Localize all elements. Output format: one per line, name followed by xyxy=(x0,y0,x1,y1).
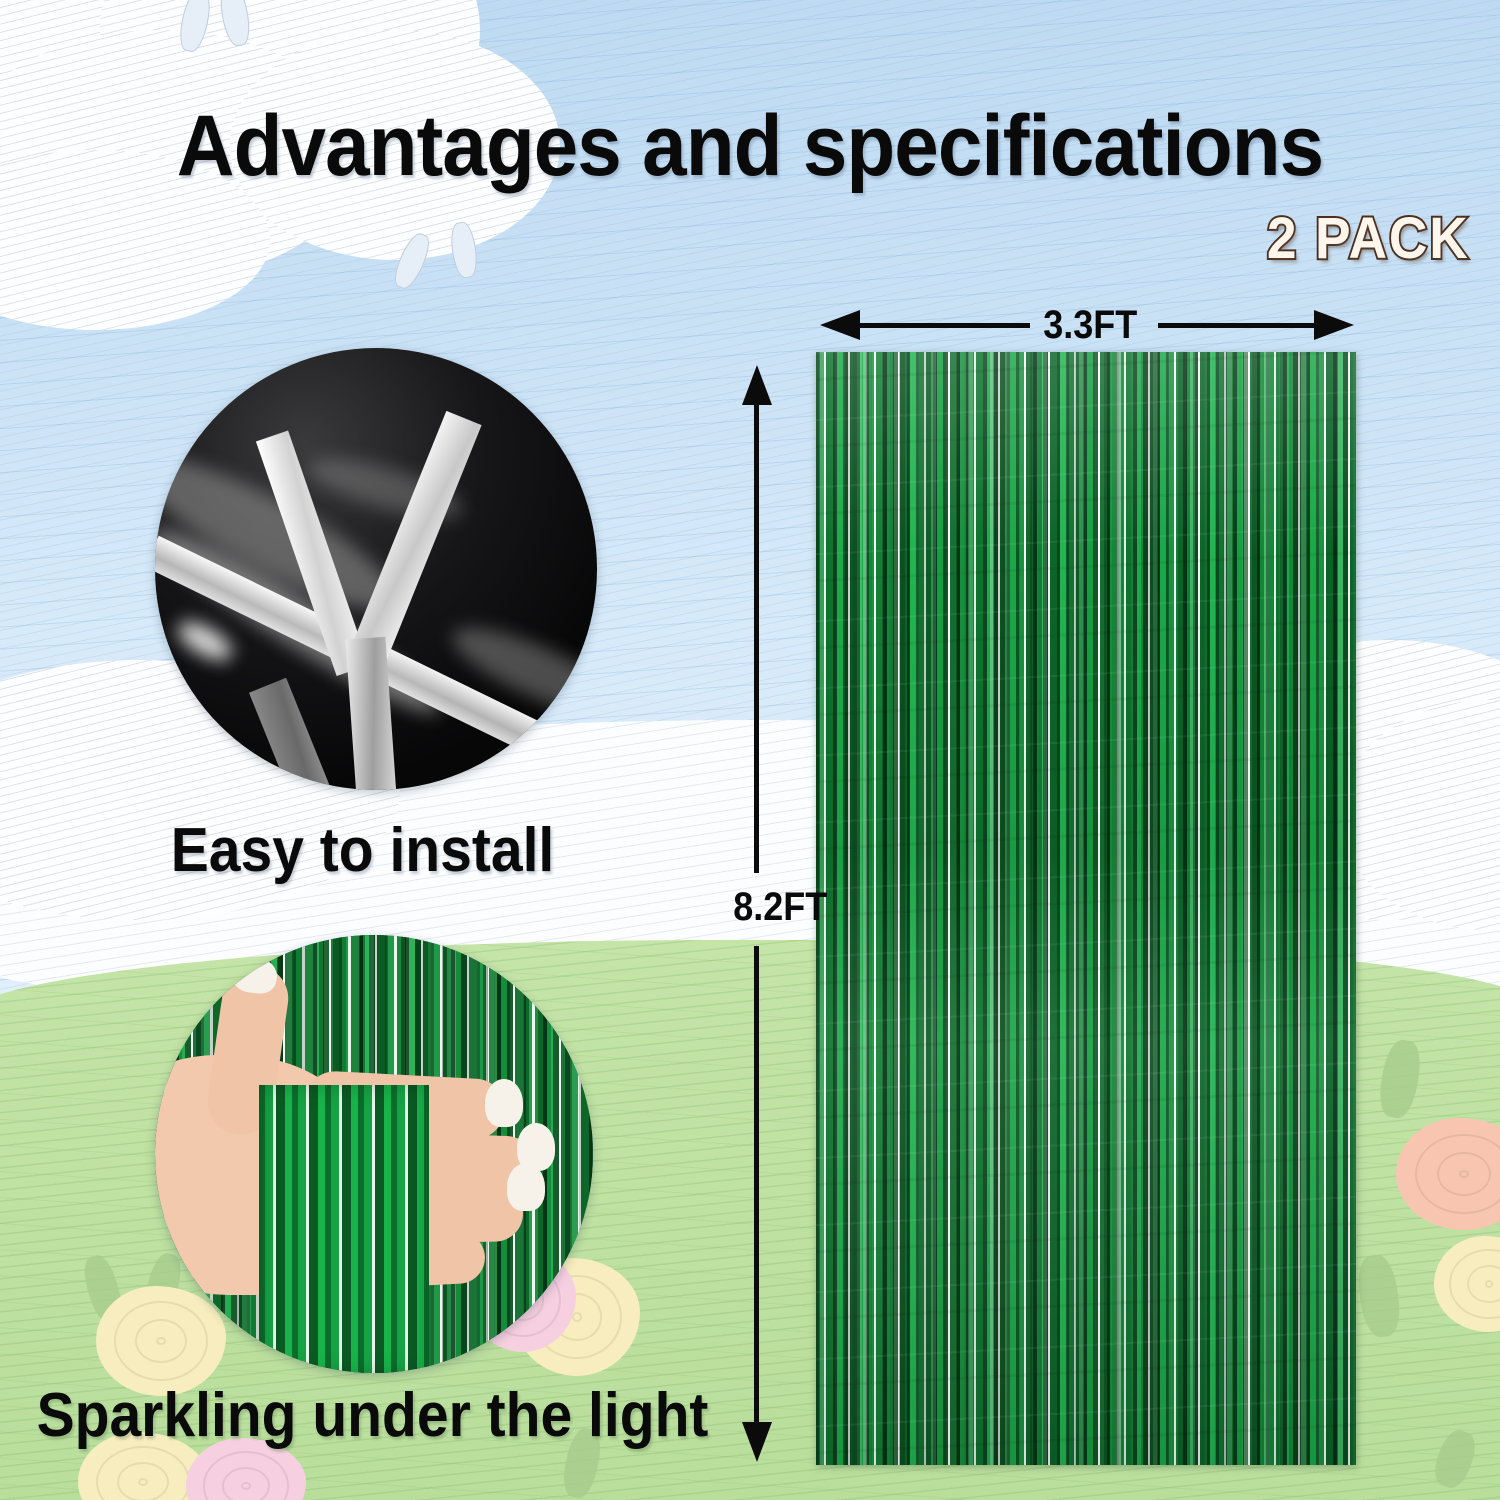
product-image-fringe-curtain xyxy=(816,352,1356,1465)
feature-caption-sparkling: Sparkling under the light xyxy=(30,1380,715,1451)
feature-photo-sparkling xyxy=(155,935,593,1373)
pack-count-badge: 2 PACK xyxy=(1266,205,1469,272)
width-arrow-line-left xyxy=(858,323,1030,328)
height-dimension-label: 8.2FT xyxy=(733,885,827,930)
curtain-horizontal-crinkle xyxy=(816,352,1356,1465)
product-infographic-poster: Advantages and specifications 2 PACK Eas… xyxy=(0,0,1500,1500)
foil-strip-foreground xyxy=(259,1085,429,1373)
photo-sheen xyxy=(173,615,238,668)
height-arrow-line-bottom xyxy=(754,946,759,1424)
width-arrow-line-right xyxy=(1158,323,1318,328)
width-dimension-label: 3.3FT xyxy=(1043,303,1137,348)
height-arrow-head-top xyxy=(742,365,772,405)
height-arrow-head-bottom xyxy=(742,1422,772,1462)
width-arrow-head-left xyxy=(820,310,860,340)
height-arrow-line-top xyxy=(754,403,759,873)
fingernail xyxy=(485,1079,523,1127)
width-arrow-head-right xyxy=(1314,310,1354,340)
page-title: Advantages and specifications xyxy=(53,97,1448,196)
fingernail xyxy=(507,1163,545,1211)
feature-photo-easy-install xyxy=(155,348,597,790)
feature-caption-easy-install: Easy to install xyxy=(29,815,696,886)
